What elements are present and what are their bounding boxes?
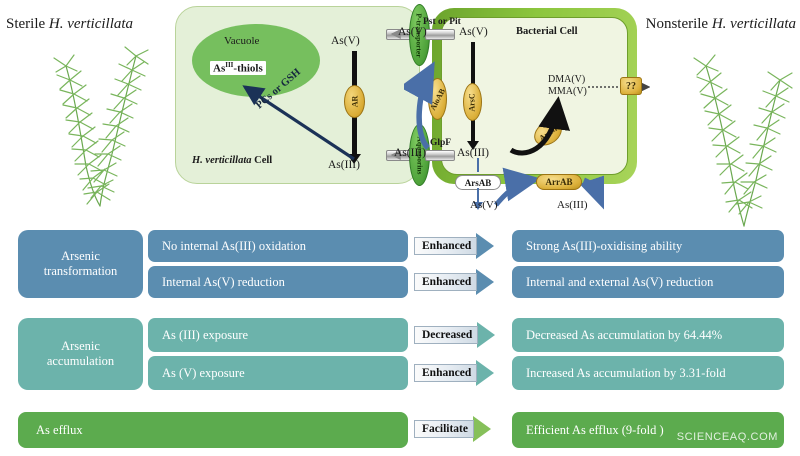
category-arsenic-transformation: Arsenic transformation [18, 230, 143, 298]
pst-or-pit-label: Pst or Pit [423, 17, 461, 27]
category-arsenic-accumulation: Arsenic accumulation [18, 318, 143, 390]
sterile-state-label: Internal As(V) reduction [162, 275, 285, 290]
unknown-transporter-label: ?? [626, 81, 636, 92]
as-thiols-suffix: -thiols [233, 63, 262, 75]
heading-sterile: Sterile H. verticillata [6, 16, 133, 33]
change-arrow-decreased: Decreased [414, 322, 495, 348]
change-arrow-enhanced-3: Enhanced [414, 360, 494, 386]
change-arrow-enhanced-2: Enhanced [414, 269, 494, 295]
mma-label: MMA(V) [548, 86, 587, 97]
plant-illustration-left [8, 34, 168, 214]
category-as-efflux: As efflux [18, 412, 408, 448]
arrab-badge: ArrAB [536, 174, 582, 190]
plant-illustration-right [660, 40, 800, 235]
nonsterile-result-decreased-accumulation: Decreased As accumulation by 64.44% [512, 318, 784, 352]
nonsterile-result-label: Strong As(III)-oxidising ability [526, 239, 682, 254]
watermark: SCIENCEAQ.COM [677, 431, 778, 443]
category-line-1: Arsenic [61, 339, 100, 354]
sterile-state-label: No internal As(III) oxidation [162, 239, 306, 254]
change-arrow-label: Enhanced [414, 237, 477, 255]
nonsterile-result-label: Decreased As accumulation by 64.44% [526, 328, 722, 343]
sterile-state-as3-exposure: As (III) exposure [148, 318, 408, 352]
as-thiols-label: AsIII-thiols [210, 61, 266, 75]
change-arrow-enhanced-1: Enhanced [414, 233, 494, 259]
arsm-methylation-arrow [505, 88, 580, 160]
nonsterile-result-oxidising: Strong As(III)-oxidising ability [512, 230, 784, 262]
arrow-head [473, 416, 491, 442]
nonsterile-result-increased-accumulation: Increased As accumulation by 3.31-fold [512, 356, 784, 390]
change-arrow-facilitate: Facilitate [414, 416, 491, 442]
sterile-state-label: As (III) exposure [162, 328, 248, 343]
nonsterile-result-label: Increased As accumulation by 3.31-fold [526, 366, 726, 381]
sterile-state-no-oxidation: No internal As(III) oxidation [148, 230, 408, 262]
heading-sterile-prefix: Sterile [6, 16, 49, 32]
change-arrow-label: Enhanced [414, 364, 477, 382]
bacteria-as-iii-bottom-label: As(III) [557, 199, 588, 211]
dma-label: DMA(V) [548, 74, 585, 85]
category-line-1: As efflux [36, 423, 83, 438]
heading-nonsterile-prefix: Nonsterile [646, 16, 712, 32]
heading-nonsterile-species: H. verticillata [712, 16, 796, 32]
nonsterile-result-label: Internal and external As(V) reduction [526, 275, 713, 290]
change-arrow-label: Facilitate [414, 420, 474, 438]
unknown-transporter-box: ?? [620, 77, 642, 95]
category-line-2: accumulation [47, 354, 114, 369]
sterile-state-label: As (V) exposure [162, 366, 245, 381]
category-line-1: Arsenic [61, 249, 100, 264]
heading-nonsterile: Nonsterile H. verticillata [646, 16, 796, 33]
category-line-2: transformation [44, 264, 118, 279]
heading-sterile-species: H. verticillata [49, 16, 133, 32]
vacuole-label: Vacuole [224, 35, 259, 47]
plant-cell-label: H. verticillata Cell [192, 155, 272, 166]
plant-cell-species: H. verticillata [192, 155, 252, 166]
arrow-head [476, 269, 494, 295]
bacteria-as-v-bottom-label: As(V) [470, 199, 498, 211]
nonsterile-result-label: Efficient As efflux (9-fold ) [526, 423, 664, 438]
arrow-head [476, 233, 494, 259]
diagram-canvas: Sterile H. verticillata Nonsterile H. ve… [0, 0, 800, 456]
arrab-label: ArrAB [546, 177, 573, 187]
arrow-head [477, 322, 495, 348]
sterile-state-internal-reduction: Internal As(V) reduction [148, 266, 408, 298]
nonsterile-result-efflux: Efficient As efflux (9-fold ) SCIENCEAQ.… [512, 412, 784, 448]
nonsterile-result-reduction: Internal and external As(V) reduction [512, 266, 784, 298]
as-thiols-text: As [213, 63, 225, 75]
sterile-state-as5-exposure: As (V) exposure [148, 356, 408, 390]
plant-cell-suffix: Cell [252, 155, 273, 166]
change-arrow-label: Enhanced [414, 273, 477, 291]
change-arrow-label: Decreased [414, 326, 478, 344]
arrow-head [476, 360, 494, 386]
